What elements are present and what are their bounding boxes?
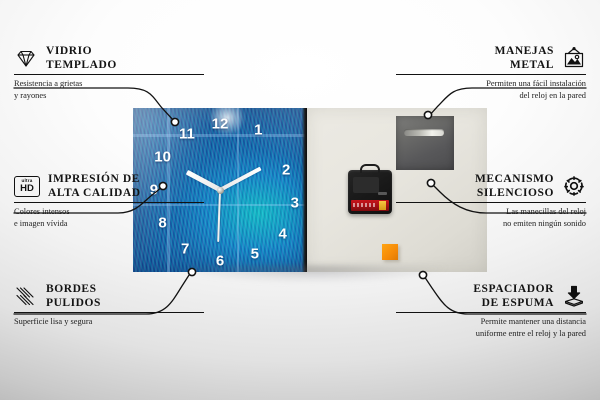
callout-head: ESPACIADOR DE ESPUMA — [396, 282, 586, 310]
callout-espaciador-de-espuma: ESPACIADOR DE ESPUMA Permite mantener un… — [396, 282, 586, 340]
callout-title: IMPRESIÓN DE ALTA CALIDAD — [48, 172, 141, 200]
polished-edges-icon — [14, 284, 38, 308]
foam-spacer-pad — [382, 244, 398, 260]
clock-numeral-4: 4 — [278, 227, 286, 242]
clock-numeral-7: 7 — [181, 242, 189, 257]
callout-impresion-alta-calidad: ultra HD IMPRESIÓN DE ALTA CALIDAD Color… — [14, 172, 204, 230]
clock-numeral-10: 10 — [154, 150, 171, 165]
foam-spacer-icon — [562, 284, 586, 308]
gear-icon — [562, 174, 586, 198]
mechanism-label — [378, 192, 387, 195]
callout-rule — [396, 312, 586, 313]
callout-rule — [14, 312, 204, 313]
callout-title: VIDRIO TEMPLADO — [46, 44, 117, 72]
mechanism-handle — [360, 164, 380, 173]
hanging-picture-icon — [562, 46, 586, 70]
clock-numeral-11: 11 — [179, 127, 195, 142]
callout-head: MANEJAS METAL — [396, 44, 586, 72]
callout-head: MECANISMO SILENCIOSO — [396, 172, 586, 200]
clock-numeral-2: 2 — [282, 163, 290, 178]
clock-numeral-3: 3 — [291, 196, 299, 211]
clock-numeral-6: 6 — [216, 253, 224, 268]
mechanism-panel — [353, 177, 379, 193]
callout-head: BORDES PULIDOS — [14, 282, 204, 310]
callout-vidrio-templado: VIDRIO TEMPLADO Resistencia a grietas y … — [14, 44, 204, 102]
diamond-icon — [14, 46, 38, 70]
ultra-hd-icon-main-text: HD — [20, 184, 34, 194]
callout-title: MANEJAS METAL — [495, 44, 554, 72]
callout-mecanismo-silencioso: MECANISMO SILENCIOSO Las manecillas del … — [396, 172, 586, 230]
clock-center-cap — [217, 187, 224, 194]
hanger-slot — [404, 129, 444, 136]
callout-description: Permiten una fácil instalación del reloj… — [396, 78, 586, 102]
callout-description: Las manecillas del reloj no emiten ningú… — [396, 206, 586, 230]
callout-description: Colores intensos e imagen vívida — [14, 206, 204, 230]
battery-label — [351, 200, 389, 211]
infographic-stage: 12 1 2 3 4 5 6 7 8 9 10 11 — [0, 0, 600, 400]
callout-rule — [396, 74, 586, 75]
callout-title: ESPACIADOR DE ESPUMA — [473, 282, 554, 310]
callout-rule — [14, 202, 204, 203]
callout-bordes-pulidos: BORDES PULIDOS Superficie lisa y segura — [14, 282, 204, 328]
clock-mechanism-box — [348, 170, 392, 214]
clock-numeral-5: 5 — [251, 246, 259, 261]
callout-head: ultra HD IMPRESIÓN DE ALTA CALIDAD — [14, 172, 204, 200]
callout-title: BORDES PULIDOS — [46, 282, 101, 310]
callout-description: Permite mantener una distancia uniforme … — [396, 316, 586, 340]
callout-description: Resistencia a grietas y rayones — [14, 78, 204, 102]
connector-marker-espaciador — [419, 271, 426, 278]
callout-manejas-metal: MANEJAS METAL Permiten una fácil instala… — [396, 44, 586, 102]
metal-hanger-plate — [396, 116, 454, 170]
callout-head: VIDRIO TEMPLADO — [14, 44, 204, 72]
callout-rule — [14, 74, 204, 75]
callout-title: MECANISMO SILENCIOSO — [475, 172, 554, 200]
ultra-hd-icon: ultra HD — [14, 176, 40, 197]
callout-rule — [396, 202, 586, 203]
clock-numeral-1: 1 — [254, 123, 262, 138]
clock-numeral-12: 12 — [212, 117, 229, 132]
callout-description: Superficie lisa y segura — [14, 316, 204, 328]
